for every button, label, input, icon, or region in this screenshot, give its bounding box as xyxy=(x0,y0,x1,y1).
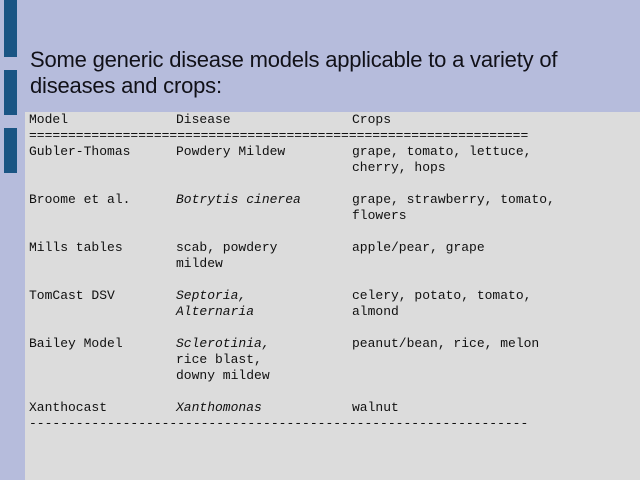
table-body: ModelDiseaseCrops=======================… xyxy=(25,112,640,432)
table-row: Mills tablesscab, powderyapple/pear, gra… xyxy=(25,240,640,256)
table-row: TomCast DSVSeptoria,celery, potato, toma… xyxy=(25,288,640,304)
column-header-disease: Disease xyxy=(176,112,231,128)
cell-model: Xanthocast xyxy=(29,400,107,416)
table-row: Alternariaalmond xyxy=(25,304,640,320)
cell-crops: grape, tomato, lettuce, xyxy=(352,144,531,160)
cell-disease: scab, powdery xyxy=(176,240,277,256)
table-bottom-rule: ----------------------------------------… xyxy=(25,416,640,432)
cell-crops: apple/pear, grape xyxy=(352,240,485,256)
cell-disease: Xanthomonas xyxy=(176,400,262,416)
table-row: downy mildew xyxy=(25,368,640,384)
cell-crops: almond xyxy=(352,304,399,320)
accent-bar-middle xyxy=(4,70,17,115)
cell-crops: celery, potato, tomato, xyxy=(352,288,531,304)
cell-crops: walnut xyxy=(352,400,399,416)
column-header-model: Model xyxy=(29,112,68,128)
table-row: Gubler-ThomasPowdery Mildewgrape, tomato… xyxy=(25,144,640,160)
cell-crops: grape, strawberry, tomato, xyxy=(352,192,555,208)
cell-disease: downy mildew xyxy=(176,368,270,384)
accent-bar-bottom xyxy=(4,128,17,173)
cell-disease: Powdery Mildew xyxy=(176,144,285,160)
row-spacer xyxy=(25,272,640,288)
cell-disease: Sclerotinia, xyxy=(176,336,270,352)
table-row: rice blast, xyxy=(25,352,640,368)
bottom-rule-text: ----------------------------------------… xyxy=(29,416,609,432)
top-rule-text: ========================================… xyxy=(29,128,609,144)
row-spacer xyxy=(25,224,640,240)
table-row: flowers xyxy=(25,208,640,224)
disease-model-table: ModelDiseaseCrops=======================… xyxy=(25,112,640,480)
table-row: cherry, hops xyxy=(25,160,640,176)
cell-crops: peanut/bean, rice, melon xyxy=(352,336,539,352)
cell-model: Bailey Model xyxy=(29,336,123,352)
cell-model: Mills tables xyxy=(29,240,123,256)
page-title: Some generic disease models applicable t… xyxy=(30,47,610,99)
table-top-rule: ========================================… xyxy=(25,128,640,144)
slide-canvas: { "slide": { "title": "Some generic dise… xyxy=(0,0,640,480)
row-spacer xyxy=(25,176,640,192)
table-header-row: ModelDiseaseCrops xyxy=(25,112,640,128)
table-row: XanthocastXanthomonaswalnut xyxy=(25,400,640,416)
cell-model: Broome et al. xyxy=(29,192,130,208)
cell-disease: mildew xyxy=(176,256,223,272)
cell-crops: flowers xyxy=(352,208,407,224)
cell-disease: Alternaria xyxy=(176,304,254,320)
table-row: mildew xyxy=(25,256,640,272)
cell-disease: rice blast, xyxy=(176,352,262,368)
cell-disease: Botrytis cinerea xyxy=(176,192,301,208)
cell-disease: Septoria, xyxy=(176,288,246,304)
row-spacer xyxy=(25,384,640,400)
column-header-crops: Crops xyxy=(352,112,391,128)
cell-crops: cherry, hops xyxy=(352,160,446,176)
row-spacer xyxy=(25,320,640,336)
cell-model: Gubler-Thomas xyxy=(29,144,130,160)
accent-bar-top xyxy=(4,0,17,57)
cell-model: TomCast DSV xyxy=(29,288,115,304)
table-row: Broome et al.Botrytis cinereagrape, stra… xyxy=(25,192,640,208)
table-row: Bailey ModelSclerotinia,peanut/bean, ric… xyxy=(25,336,640,352)
